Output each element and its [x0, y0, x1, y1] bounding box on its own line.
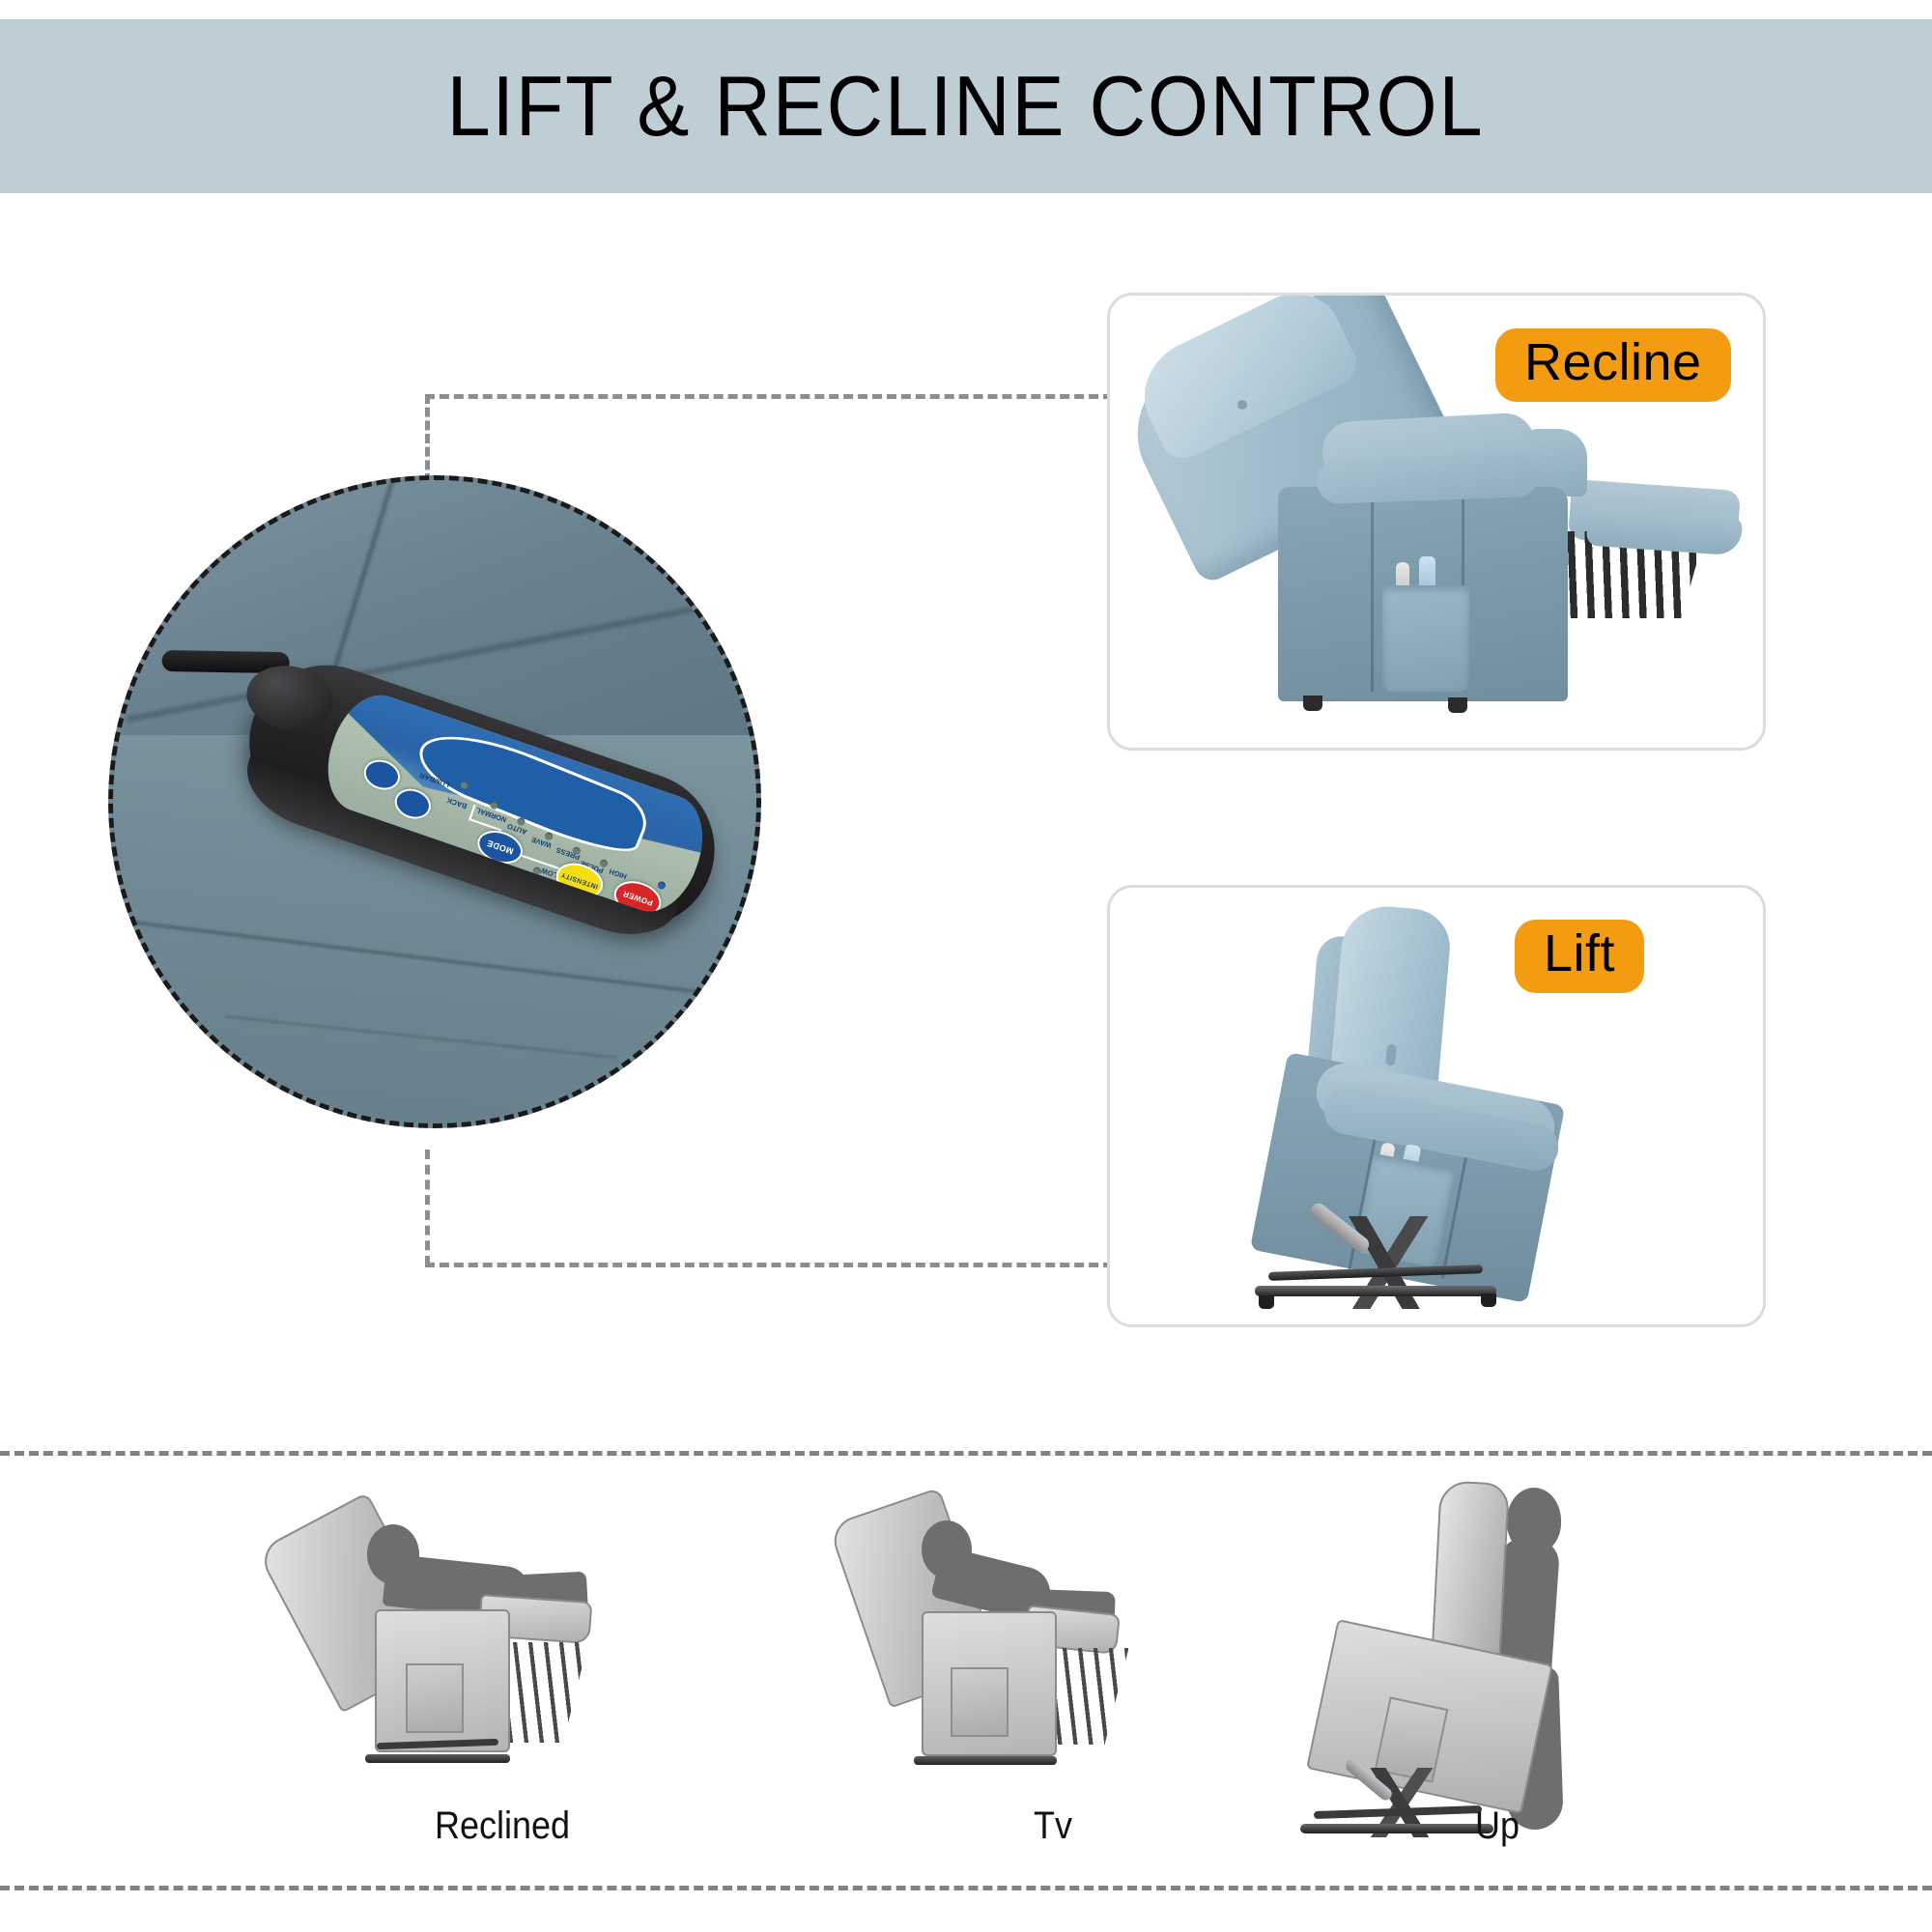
- connector-line-lift-horizontal: [425, 1263, 1113, 1267]
- connector-line-lift-vertical: [425, 1150, 430, 1265]
- lift-frame-foot: [1259, 1295, 1274, 1309]
- positions-row: Reclined Tv Up: [0, 1478, 1932, 1864]
- closeup-photo-inner: LUMBAR BACK NORMAL AUTO WAVE PRESS PULSE…: [108, 475, 760, 1127]
- chair-side-pocket: [1382, 585, 1469, 692]
- header-banner: LIFT & RECLINE CONTROL: [0, 19, 1932, 193]
- indicator-led-power: [657, 881, 667, 891]
- badge-recline: Recline: [1495, 328, 1731, 402]
- chair-foot: [1448, 697, 1467, 713]
- connector-line-recline-vertical: [425, 394, 430, 483]
- section-divider-top: [0, 1451, 1932, 1456]
- position-label-reclined: Reclined: [294, 1804, 711, 1848]
- position-tv: Tv: [821, 1478, 1285, 1864]
- position-up-illustration: [1265, 1478, 1729, 1797]
- remote-control-closeup-photo: LUMBAR BACK NORMAL AUTO WAVE PRESS PULSE…: [108, 475, 761, 1128]
- position-label-up: Up: [1289, 1804, 1706, 1848]
- section-divider-bottom: [0, 1886, 1932, 1890]
- chair-armrest-lower: [1316, 452, 1539, 504]
- chair-backrest: [1431, 1480, 1510, 1667]
- connector-line-recline-horizontal: [425, 394, 1113, 399]
- chair-pillow-tuft: [1237, 400, 1247, 410]
- lift-frame-base: [1255, 1286, 1496, 1296]
- position-reclined: Reclined: [270, 1478, 734, 1864]
- remote-button-back[interactable]: [390, 783, 435, 823]
- position-up: Up: [1265, 1478, 1729, 1864]
- position-label-tv: Tv: [844, 1804, 1262, 1848]
- remote-label-high: HIGH: [609, 867, 629, 881]
- chair-side-pocket: [951, 1667, 1009, 1737]
- page-title: LIFT & RECLINE CONTROL: [447, 57, 1485, 156]
- remote-button-lumbar[interactable]: [359, 755, 404, 795]
- position-reclined-illustration: [270, 1478, 734, 1797]
- chair-base-seam: [1371, 493, 1374, 692]
- chair-frame-base: [365, 1754, 510, 1763]
- badge-lift: Lift: [1515, 920, 1644, 993]
- recliner-image-lift: [1216, 901, 1757, 1317]
- chair-frame-base: [914, 1756, 1057, 1765]
- feature-card-lift: [1107, 885, 1766, 1327]
- chair-side-pocket: [406, 1663, 464, 1733]
- lift-frame-foot: [1481, 1293, 1496, 1307]
- chair-foot: [1303, 696, 1322, 711]
- position-tv-illustration: [821, 1478, 1285, 1797]
